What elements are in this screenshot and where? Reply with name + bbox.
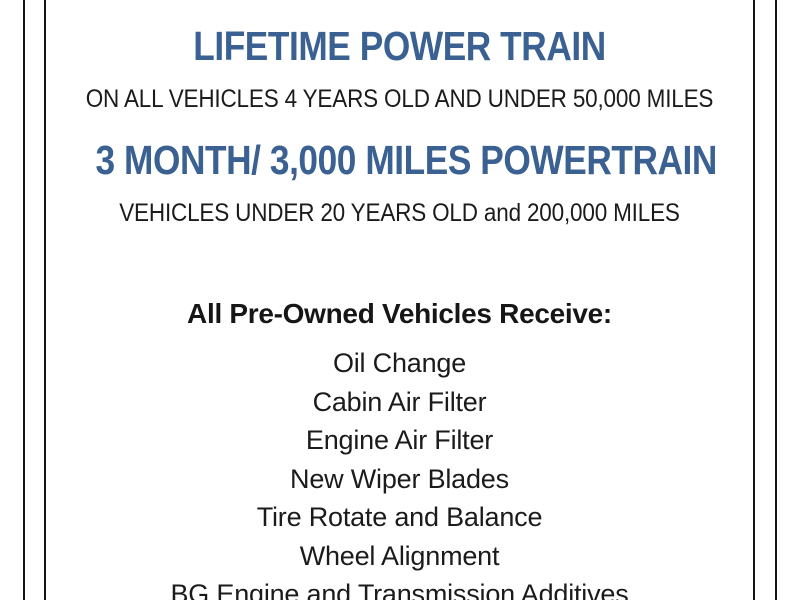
border-rule-left-outer xyxy=(23,0,25,600)
service-item: New Wiper Blades xyxy=(46,460,753,499)
service-item: Engine Air Filter xyxy=(46,421,753,460)
services-list: Oil ChangeCabin Air FilterEngine Air Fil… xyxy=(46,344,753,600)
border-rule-right-outer xyxy=(775,0,777,600)
warranty-block-3-month-powertrain: 3 MONTH/ 3,000 MILES POWERTRAIN VEHICLES… xyxy=(46,140,753,226)
service-item: BG Engine and Transmission Additives xyxy=(46,575,753,600)
flyer-content: LIFETIME POWER TRAIN ON ALL VEHICLES 4 Y… xyxy=(46,0,753,600)
border-rule-right-inner xyxy=(753,0,755,600)
service-item: Tire Rotate and Balance xyxy=(46,498,753,537)
warranty-subline-2: VEHICLES UNDER 20 YEARS OLD and 200,000 … xyxy=(81,201,717,226)
service-item: Cabin Air Filter xyxy=(46,383,753,422)
service-item: Oil Change xyxy=(46,344,753,383)
service-item: Wheel Alignment xyxy=(46,537,753,576)
warranty-headline-1: LIFETIME POWER TRAIN xyxy=(95,26,703,67)
warranty-headline-2: 3 MONTH/ 3,000 MILES POWERTRAIN xyxy=(95,140,703,181)
warranty-block-lifetime-power-train: LIFETIME POWER TRAIN ON ALL VEHICLES 4 Y… xyxy=(46,26,753,112)
warranty-subline-1: ON ALL VEHICLES 4 YEARS OLD AND UNDER 50… xyxy=(81,87,717,112)
services-heading: All Pre-Owned Vehicles Receive: xyxy=(46,300,753,328)
flyer-page: LIFETIME POWER TRAIN ON ALL VEHICLES 4 Y… xyxy=(0,0,800,600)
services-section: All Pre-Owned Vehicles Receive: Oil Chan… xyxy=(46,300,753,600)
